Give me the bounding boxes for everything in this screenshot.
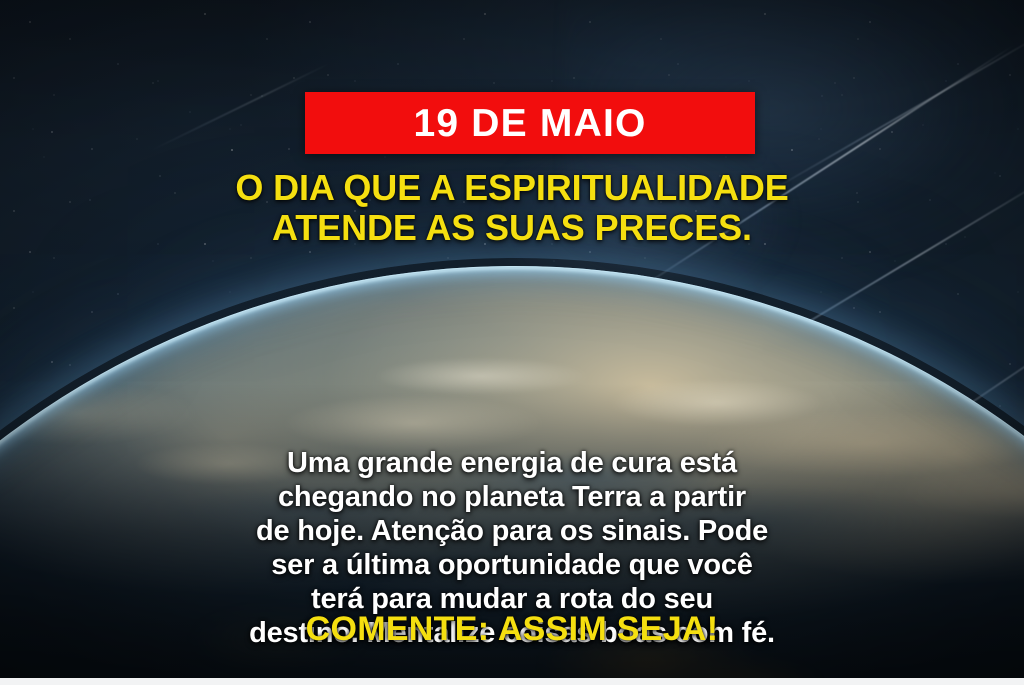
bottom-border-strip	[0, 678, 1024, 685]
headline-line-2: ATENDE AS SUAS PRECES.	[0, 208, 1024, 248]
date-banner: 19 DE MAIO	[305, 92, 755, 154]
headline-line-1: O DIA QUE A ESPIRITUALIDADE	[0, 168, 1024, 208]
body-line-4: ser a última oportunidade que você	[52, 548, 972, 582]
poster-content: 19 DE MAIO O DIA QUE A ESPIRITUALIDADE A…	[0, 0, 1024, 685]
date-banner-label: 19 DE MAIO	[413, 104, 646, 143]
cta-label: COMENTE: ASSIM SEJA!	[306, 610, 719, 648]
body-line-3: de hoje. Atenção para os sinais. Pode	[52, 514, 972, 548]
headline: O DIA QUE A ESPIRITUALIDADE ATENDE AS SU…	[0, 168, 1024, 248]
body-line-2: chegando no planeta Terra a partir	[52, 480, 972, 514]
call-to-action: COMENTE: ASSIM SEJA!	[0, 612, 1024, 646]
body-line-1: Uma grande energia de cura está	[52, 446, 972, 480]
poster-image: 19 DE MAIO O DIA QUE A ESPIRITUALIDADE A…	[0, 0, 1024, 685]
